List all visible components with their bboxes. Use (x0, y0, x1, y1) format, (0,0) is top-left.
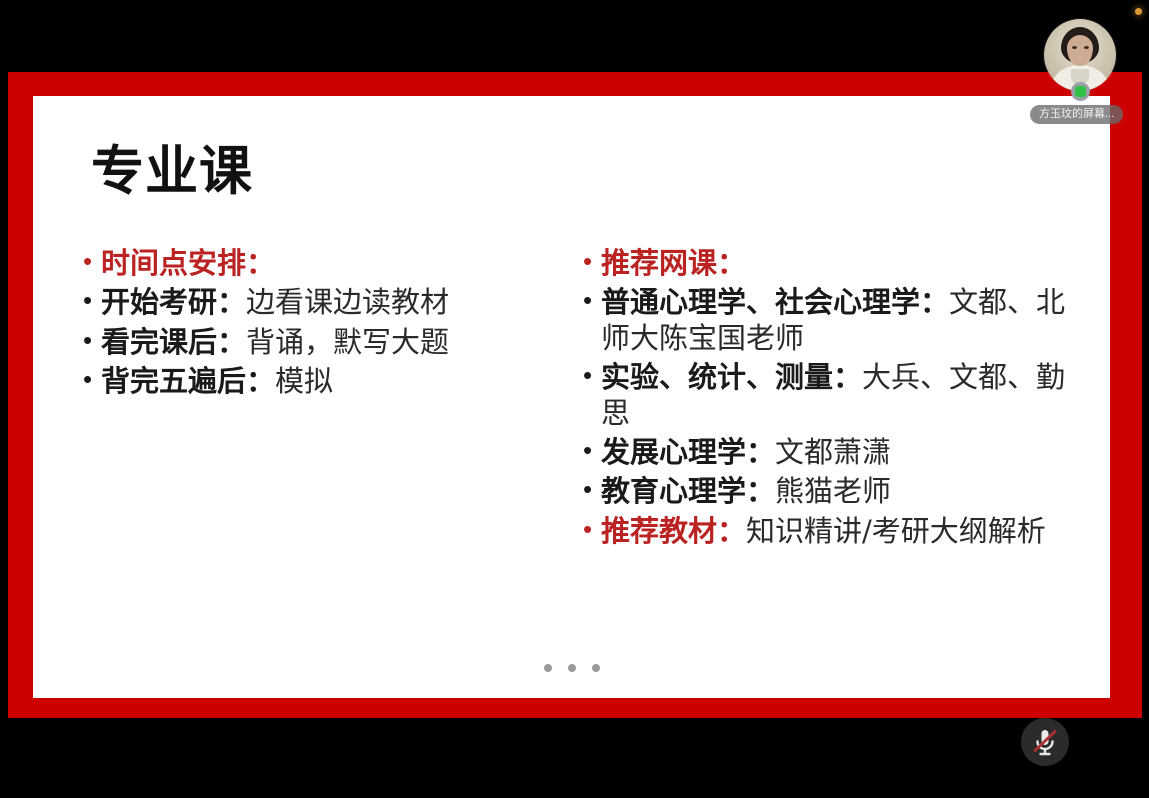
list-item-rest: 边看课边读教材 (246, 285, 449, 319)
list-item-text: 实验、统计、测量：大兵、文都、勤思 (601, 360, 1083, 431)
bullet-dot-icon: • (83, 285, 101, 317)
list-item: • 开始考研：边看课边读教材 (83, 285, 553, 320)
avatar[interactable] (1044, 19, 1116, 91)
sharing-active-icon (1075, 86, 1086, 97)
list-item: • 普通心理学、社会心理学：文都、北师大陈宝国老师 (583, 285, 1083, 356)
list-item-text: 背完五遍后：模拟 (101, 364, 553, 399)
bullet-dot-icon: • (583, 514, 601, 546)
bullet-dot-icon: • (83, 246, 101, 278)
list-item-text: 发展心理学：文都萧潇 (601, 435, 1083, 470)
list-item-rest: 文都萧潇 (775, 435, 891, 469)
recording-indicator-icon (1135, 8, 1142, 15)
left-column: • 时间点安排： • 开始考研：边看课边读教材 • 看完课后：背诵，默写大题 •… (83, 246, 553, 404)
screen-share-window: 专业课 • 时间点安排： • 开始考研：边看课边读教材 • 看完课后：背诵，默写… (0, 0, 1149, 798)
bullet-dot-icon: • (83, 364, 101, 396)
presentation-slide[interactable]: 专业课 • 时间点安排： • 开始考研：边看课边读教材 • 看完课后：背诵，默写… (33, 96, 1110, 698)
list-item-lead: 开始考研： (101, 285, 246, 319)
bullet-dot-icon: • (583, 285, 601, 317)
bullet-dot-icon: • (583, 360, 601, 392)
list-item-lead: 推荐网课： (601, 246, 746, 280)
list-item: • 实验、统计、测量：大兵、文都、勤思 (583, 360, 1083, 431)
list-item-lead: 实验、统计、测量： (601, 360, 862, 394)
right-column: • 推荐网课： • 普通心理学、社会心理学：文都、北师大陈宝国老师 • 实验、统… (583, 246, 1083, 553)
slide-pagination-dots[interactable] (33, 664, 1110, 672)
slide-body-columns: • 时间点安排： • 开始考研：边看课边读教材 • 看完课后：背诵，默写大题 •… (33, 246, 1110, 676)
list-item: • 推荐网课： (583, 246, 1083, 281)
pagination-dot[interactable] (568, 664, 576, 672)
list-item-text: 看完课后：背诵，默写大题 (101, 325, 553, 360)
list-item-lead: 看完课后： (101, 325, 246, 359)
list-item-text: 推荐教材：知识精讲/考研大纲解析 (601, 514, 1083, 549)
status-badge (1071, 82, 1090, 101)
list-item-text: 时间点安排： (101, 246, 553, 281)
participant-name-label: 方玉玟的屏幕... (1030, 105, 1123, 124)
pagination-dot[interactable] (592, 664, 600, 672)
list-item-text: 教育心理学：熊猫老师 (601, 474, 1083, 509)
avatar-video-thumbnail[interactable] (1044, 19, 1116, 91)
list-item: • 背完五遍后：模拟 (83, 364, 553, 399)
avatar-eye-shape (1072, 46, 1077, 49)
list-item: • 教育心理学：熊猫老师 (583, 474, 1083, 509)
list-item-lead: 时间点安排： (101, 246, 275, 280)
list-item: • 看完课后：背诵，默写大题 (83, 325, 553, 360)
list-item-rest: 背诵，默写大题 (246, 325, 449, 359)
pagination-dot[interactable] (544, 664, 552, 672)
avatar-eye-shape (1084, 46, 1089, 49)
list-item-text: 推荐网课： (601, 246, 1083, 281)
list-item: • 时间点安排： (83, 246, 553, 281)
bullet-dot-icon: • (83, 325, 101, 357)
list-item: • 推荐教材：知识精讲/考研大纲解析 (583, 514, 1083, 549)
slide-red-frame: 专业课 • 时间点安排： • 开始考研：边看课边读教材 • 看完课后：背诵，默写… (8, 72, 1142, 718)
page-title: 专业课 (91, 144, 253, 200)
list-item-rest: 模拟 (275, 364, 333, 398)
list-item-lead: 发展心理学： (601, 435, 775, 469)
list-item: • 发展心理学：文都萧潇 (583, 435, 1083, 470)
list-item-text: 普通心理学、社会心理学：文都、北师大陈宝国老师 (601, 285, 1083, 356)
list-item-lead: 背完五遍后： (101, 364, 275, 398)
microphone-muted-icon (1021, 718, 1069, 766)
list-item-text: 开始考研：边看课边读教材 (101, 285, 553, 320)
bullet-dot-icon: • (583, 435, 601, 467)
bullet-dot-icon: • (583, 474, 601, 506)
bullet-dot-icon: • (583, 246, 601, 278)
microphone-mute-button[interactable] (1021, 718, 1069, 766)
list-item-lead: 推荐教材： (601, 514, 746, 548)
list-item-lead: 普通心理学、社会心理学： (601, 285, 949, 319)
list-item-lead: 教育心理学： (601, 474, 775, 508)
list-item-rest: 知识精讲/考研大纲解析 (746, 514, 1046, 548)
list-item-rest: 熊猫老师 (775, 474, 891, 508)
